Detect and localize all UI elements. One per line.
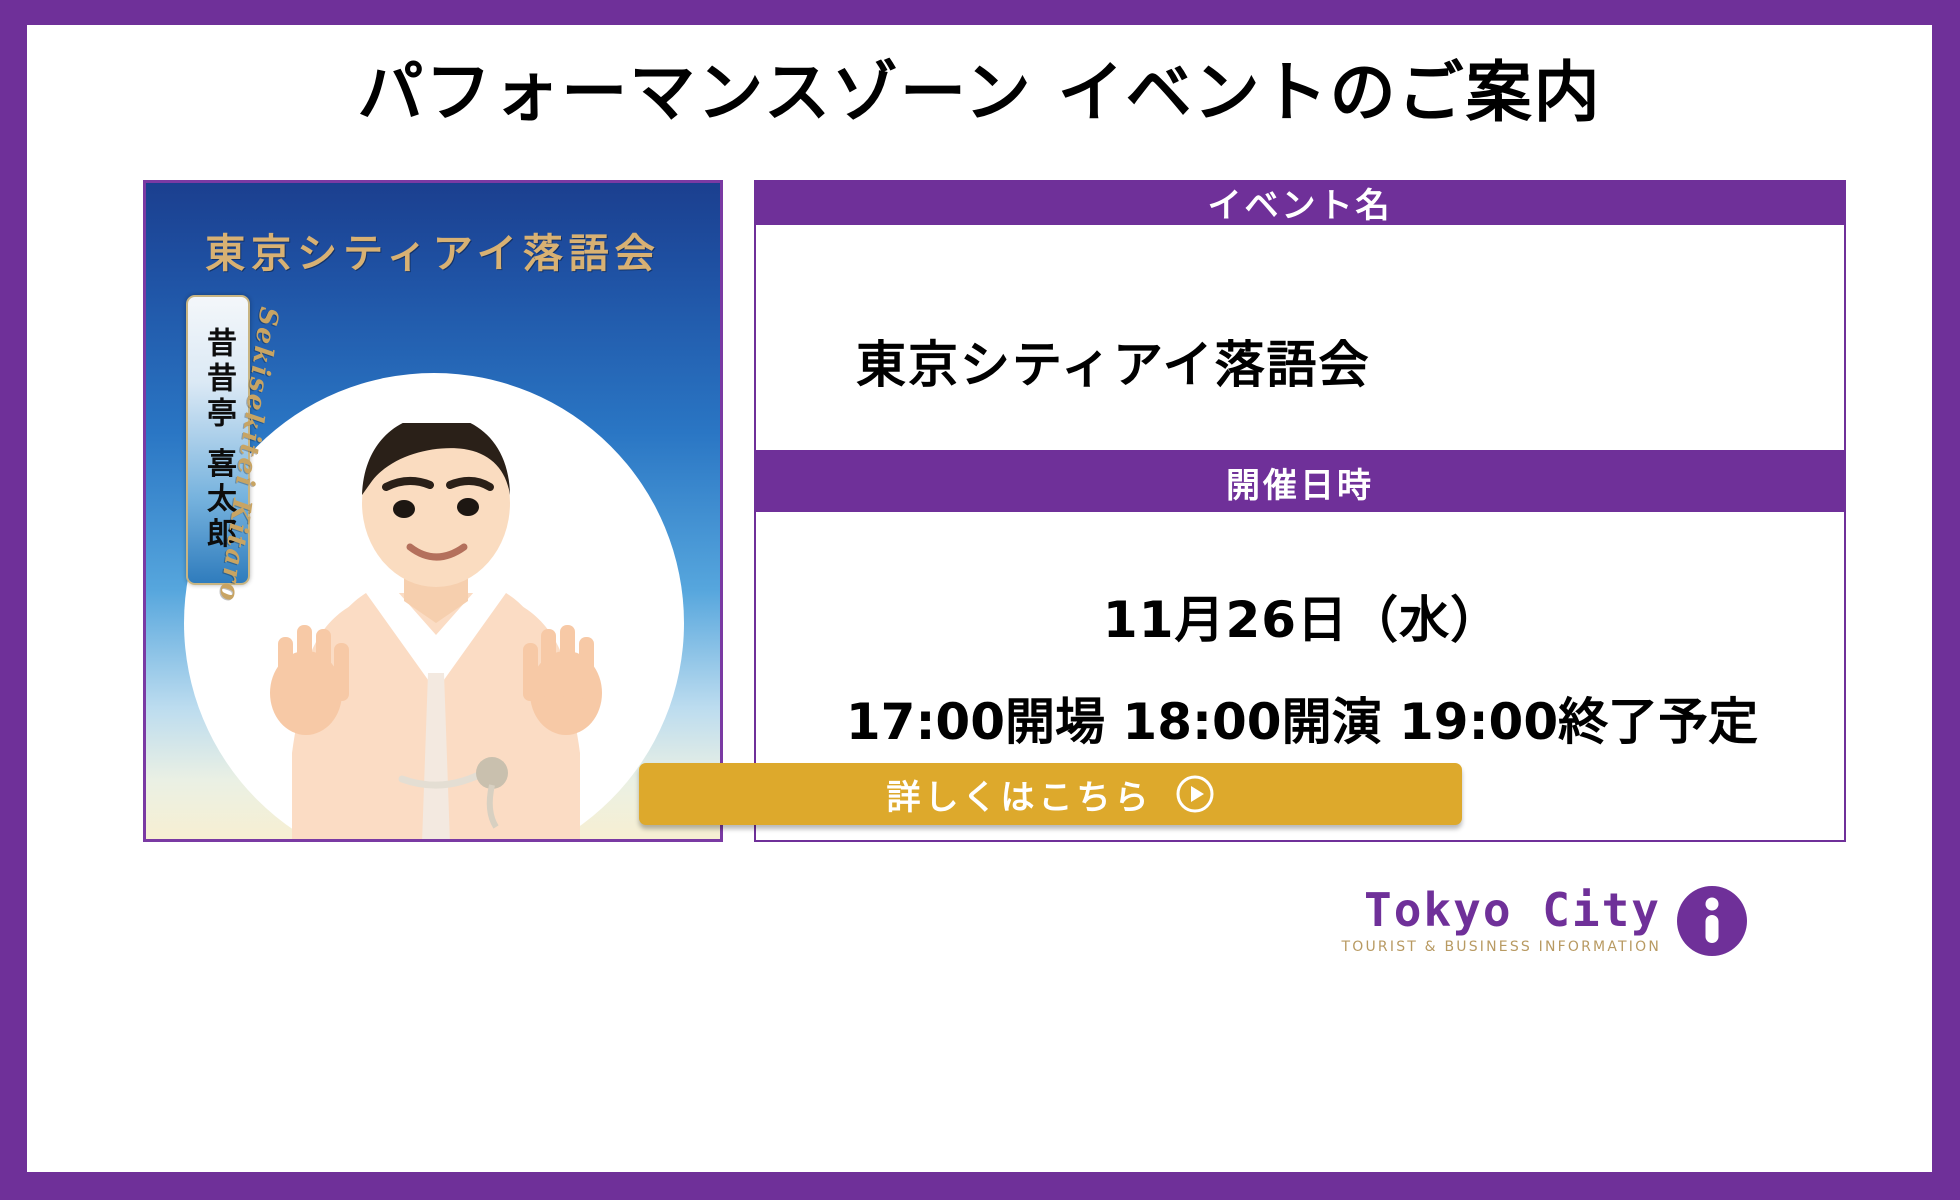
logo-title: Tokyo City [1342,887,1661,933]
tokyo-city-logo: Tokyo City TOURIST & BUSINESS INFORMATIO… [1282,883,1747,958]
page-title: パフォーマンスゾーン イベントのご案内 [27,53,1932,132]
details-button-label: 詳しくはこちら [887,770,1153,819]
performer-illustration [206,423,666,842]
event-poster: 東京シティアイ落語会 昔昔亭 喜太郎 Sekisekitei Kitaro [143,180,723,842]
datetime-header: 開催日時 [754,452,1846,512]
signage-root: パフォーマンスゾーン イベントのご案内 東京シティアイ落語会 昔昔亭 喜太郎 S… [0,0,1960,1200]
event-name-value: 東京シティアイ落語会 [856,325,1371,397]
info-circle-icon [1677,886,1747,956]
event-time-value: 17:00開場 18:00開演 19:00終了予定 [756,682,1848,754]
event-info-panel: イベント名 東京シティアイ落語会 開催日時 11月26日（水） 17:00開場 … [754,180,1846,842]
logo-subtitle: TOURIST & BUSINESS INFORMATION [1342,939,1661,955]
logo-text-wrap: Tokyo City TOURIST & BUSINESS INFORMATIO… [1342,887,1661,955]
play-circle-icon [1175,774,1215,814]
signage-canvas: パフォーマンスゾーン イベントのご案内 東京シティアイ落語会 昔昔亭 喜太郎 S… [27,25,1932,1172]
event-name-header: イベント名 [754,180,1846,225]
event-name-value-box: 東京シティアイ落語会 [754,225,1846,452]
poster-heading: 東京シティアイ落語会 [146,221,720,279]
event-date-value: 11月26日（水） [756,580,1848,652]
details-button[interactable]: 詳しくはこちら [639,763,1462,825]
